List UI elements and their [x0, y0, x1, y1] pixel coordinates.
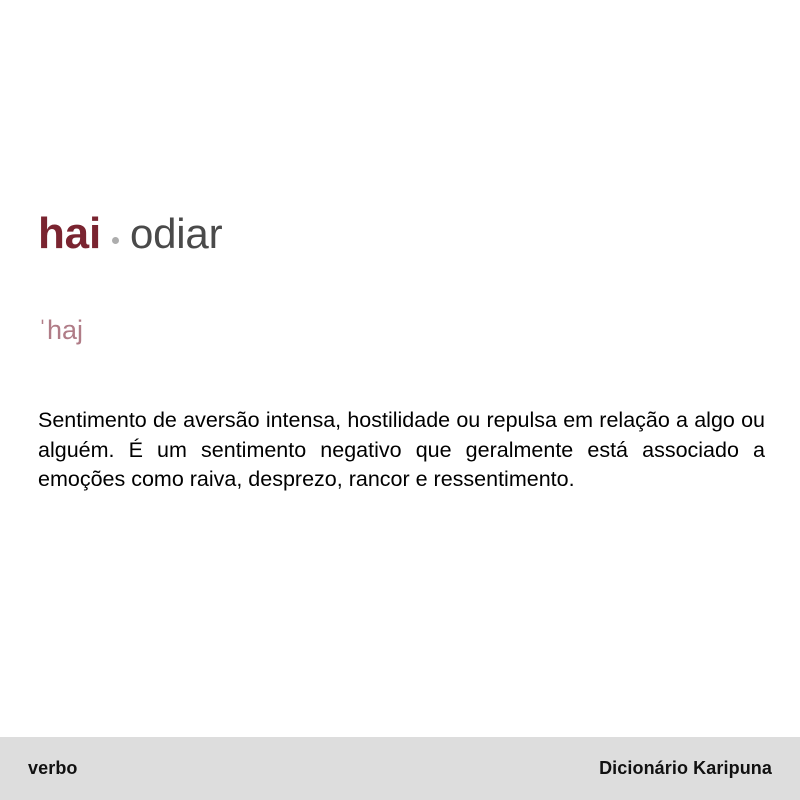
- part-of-speech-label: verbo: [28, 758, 78, 779]
- entry-content: haiodiar: [0, 0, 800, 256]
- footer-bar: verbo Dicionário Karipuna: [0, 737, 800, 800]
- dictionary-entry-card: haiodiar ˈhaj Sentimento de aversão inte…: [0, 0, 800, 800]
- dictionary-source-label: Dicionário Karipuna: [599, 758, 772, 779]
- translation: odiar: [130, 210, 222, 257]
- definition-text: Sentimento de aversão intensa, hostilida…: [38, 406, 765, 495]
- separator-dot-icon: [112, 237, 119, 244]
- entry-headline: haiodiar: [38, 212, 765, 256]
- pronunciation: ˈhaj: [38, 317, 83, 344]
- headword: hai: [38, 209, 101, 258]
